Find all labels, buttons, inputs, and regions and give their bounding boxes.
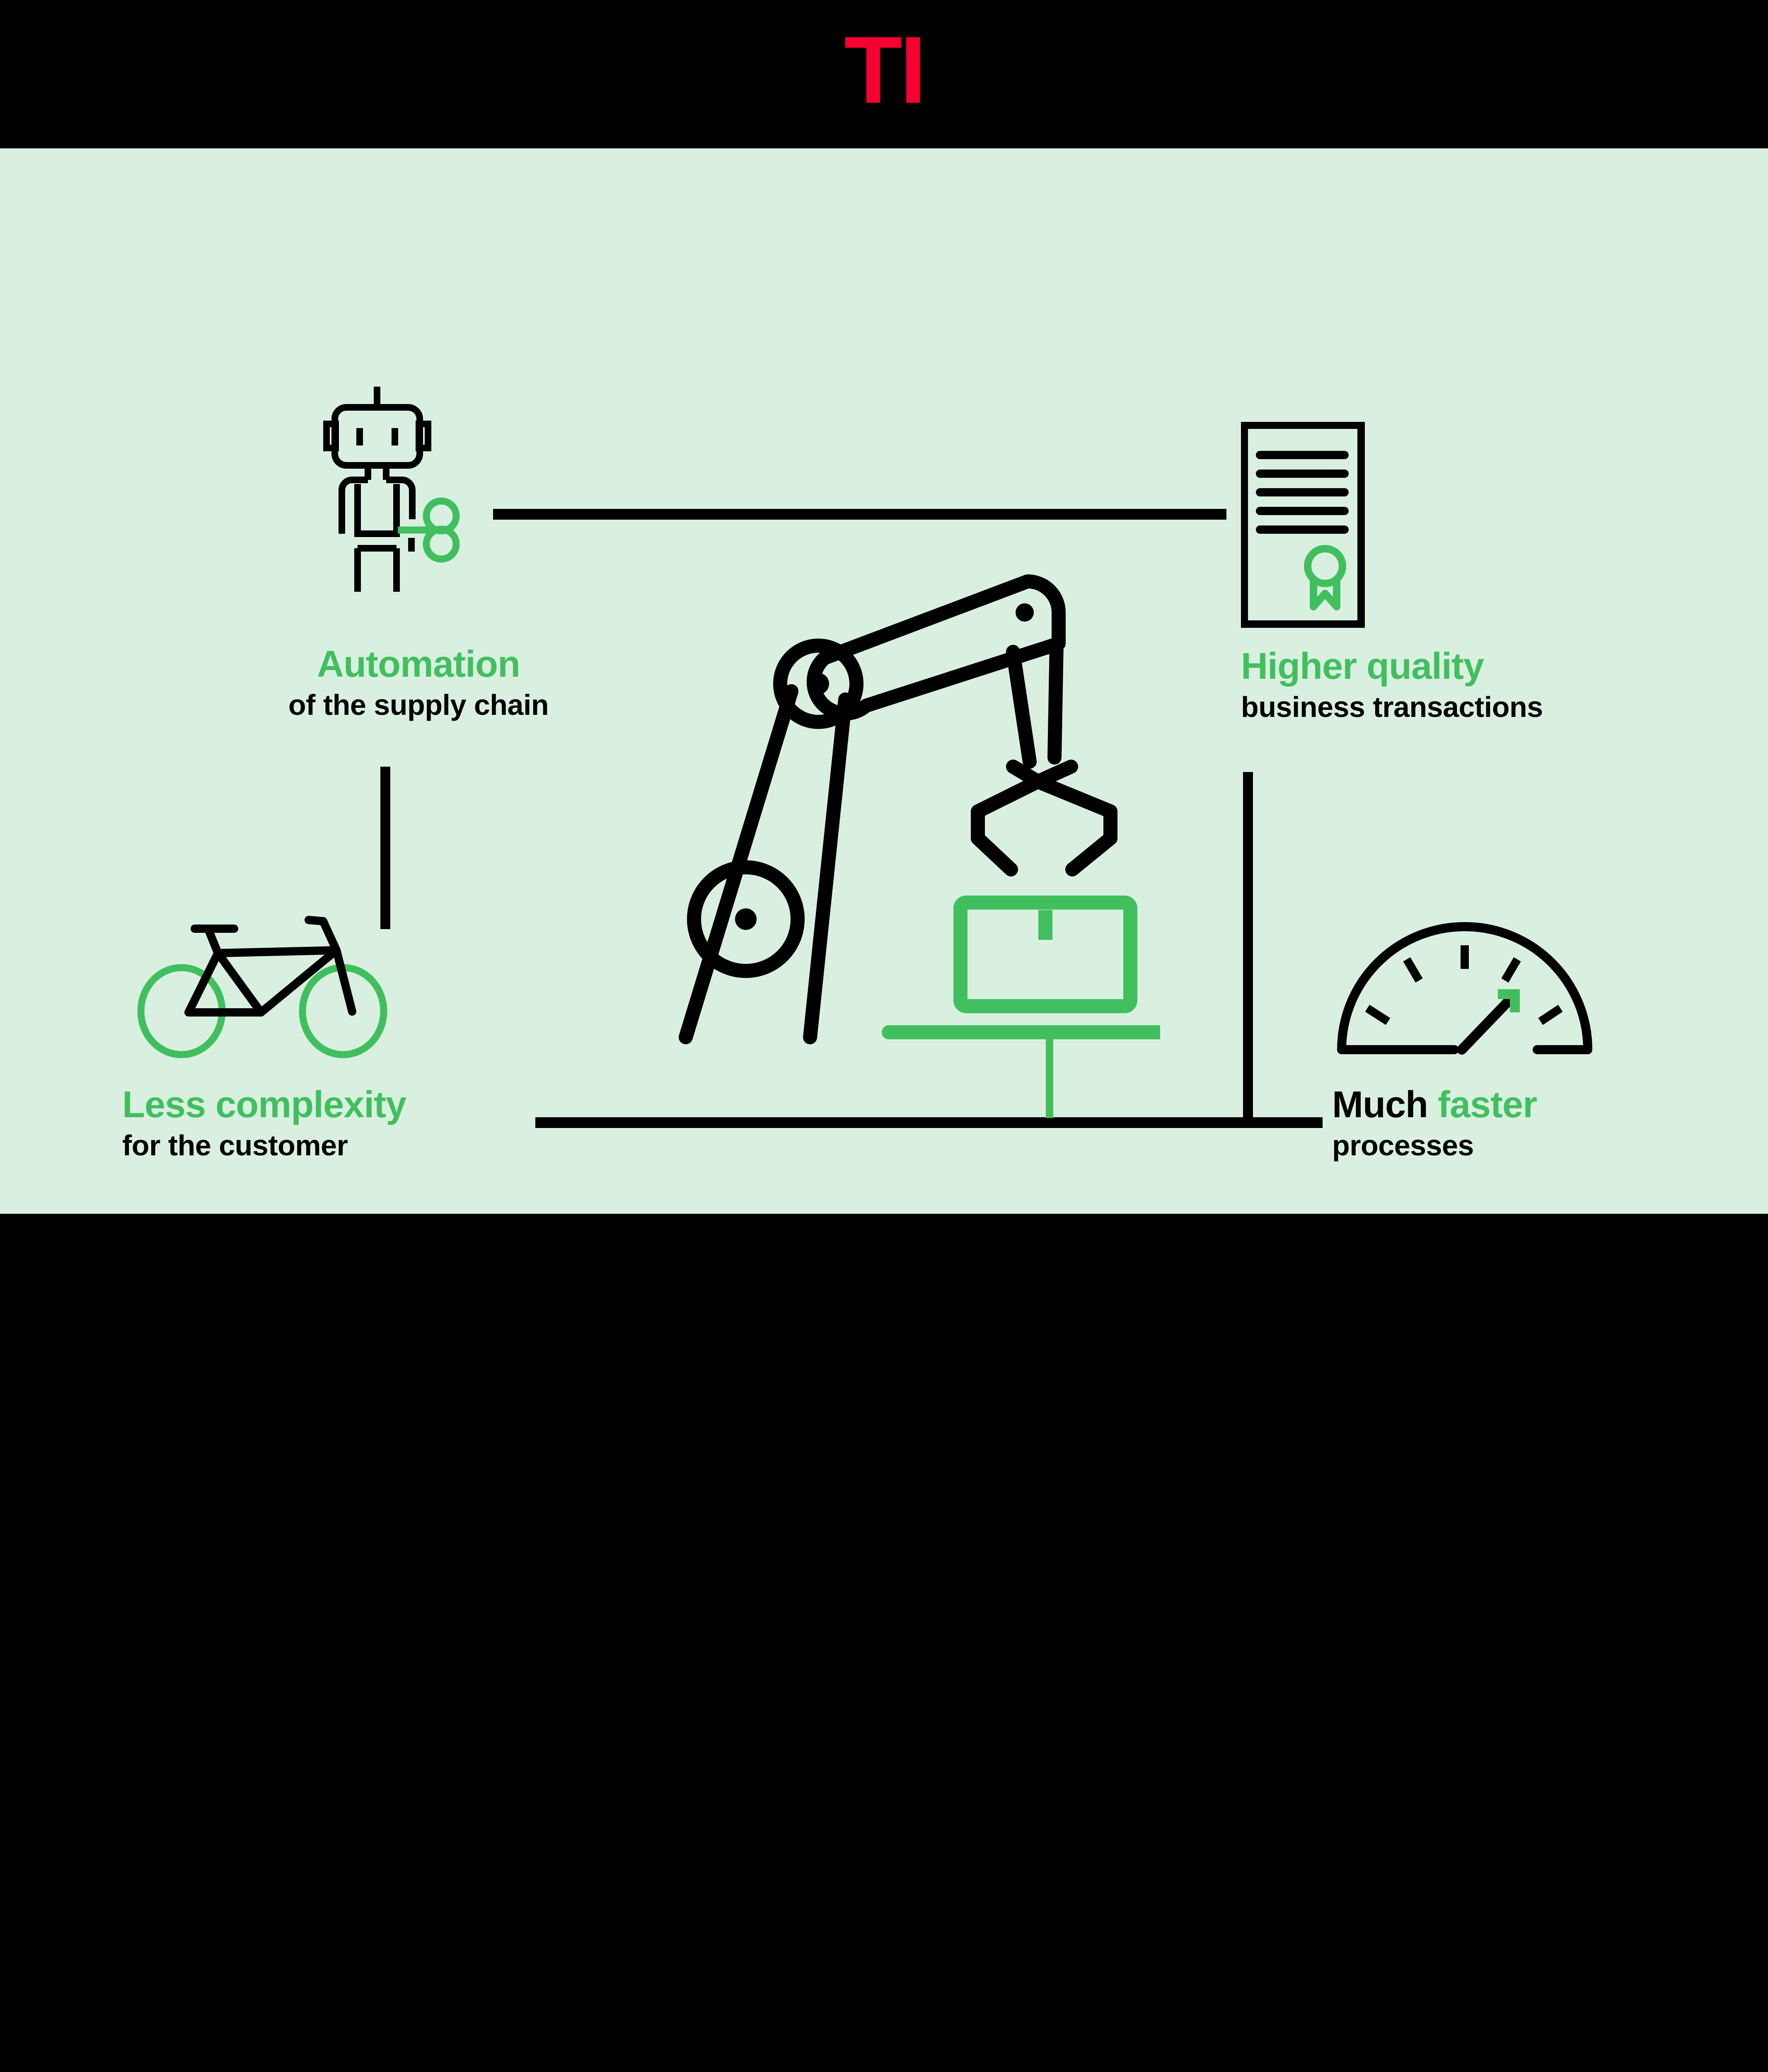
- callout-much-faster-headline: Much faster: [1332, 1084, 1705, 1126]
- callout-higher-quality-headline: Higher quality: [1241, 646, 1697, 687]
- connector-line-top: [493, 509, 1226, 520]
- callout-less-complexity-subline: for the customer: [122, 1129, 537, 1162]
- infographic-panel: Automation of the supply chain Higher qu…: [0, 148, 1768, 1214]
- callout-much-faster-headline-black: Much: [1332, 1084, 1438, 1126]
- speedometer-icon: [1330, 913, 1599, 1058]
- callout-automation-subline: of the supply chain: [232, 689, 605, 721]
- callout-much-faster-headline-green: faster: [1438, 1084, 1537, 1126]
- callout-higher-quality: Higher quality business transactions: [1241, 646, 1697, 723]
- robot-icon: [315, 382, 489, 631]
- callout-much-faster-subline: processes: [1332, 1129, 1705, 1162]
- callout-much-faster: Much faster processes: [1332, 1084, 1705, 1162]
- callout-automation: Automation of the supply chain: [232, 644, 605, 721]
- connector-line-right: [1243, 772, 1253, 1126]
- footer-bar: Texas Instruments AVNET Reach Further™: [0, 1214, 1768, 1285]
- robotic-arm-icon: [663, 563, 1160, 1060]
- callout-less-complexity-headline: Less complexity: [122, 1084, 537, 1126]
- bicycle-icon: [137, 907, 418, 1060]
- callout-less-complexity: Less complexity for the customer: [122, 1084, 537, 1162]
- ti-wordmark: TI: [0, 0, 1768, 148]
- certificate-icon: [1241, 422, 1386, 633]
- callout-automation-headline: Automation: [232, 644, 605, 685]
- connector-line-left: [380, 767, 390, 929]
- callout-higher-quality-subline: business transactions: [1241, 691, 1697, 723]
- connector-line-bottom: [535, 1117, 1323, 1128]
- top-black-bar: TI: [0, 0, 1768, 148]
